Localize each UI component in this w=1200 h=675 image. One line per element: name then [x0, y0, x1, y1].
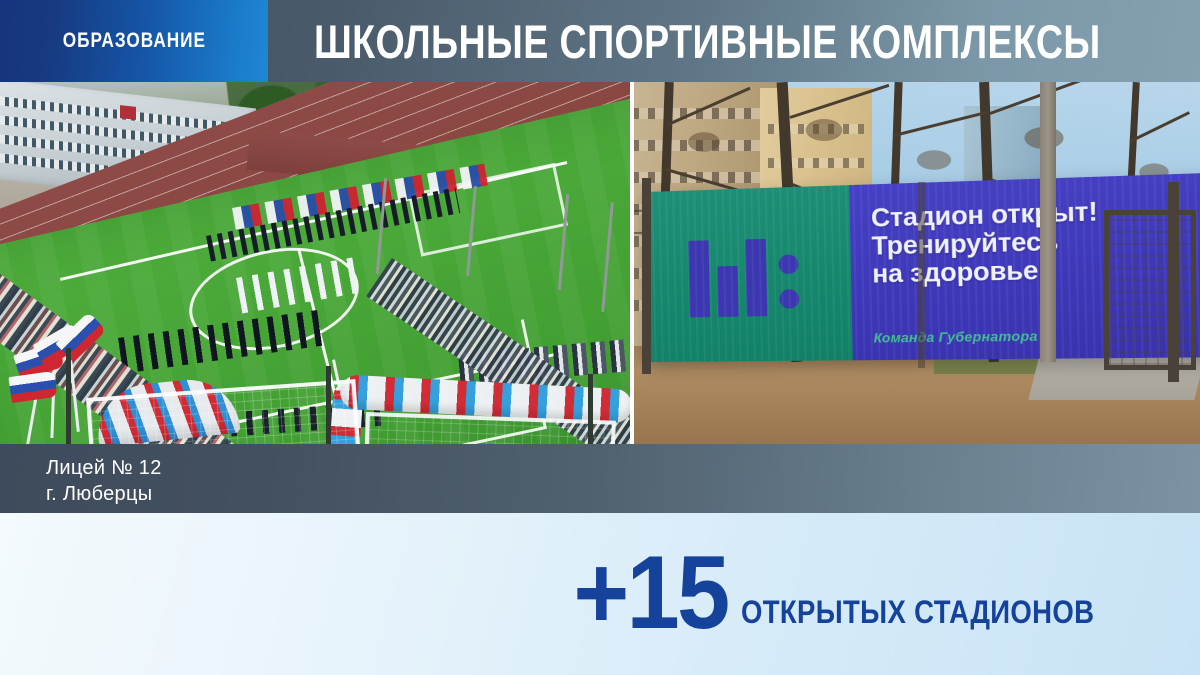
logo-dot — [779, 289, 799, 309]
page-title-text: ШКОЛЬНЫЕ СПОРТИВНЫЕ КОМПЛЕКСЫ — [314, 18, 1101, 65]
photo-strip: Стадион открыт! Тренируйтесь на здоровье… — [0, 82, 1200, 444]
caption-band: Лицей № 12 г. Люберцы — [0, 444, 1200, 513]
fence-post — [326, 366, 331, 444]
header-bar: ОБРАЗОВАНИЕ ШКОЛЬНЫЕ СПОРТИВНЫЕ КОМПЛЕКС… — [0, 0, 1200, 82]
logo-bar — [717, 266, 738, 317]
utility-pole — [1040, 82, 1056, 362]
photo-caption: Лицей № 12 г. Люберцы — [46, 456, 162, 507]
fence-gate — [1104, 210, 1196, 370]
russian-flag — [8, 371, 57, 403]
fence-post — [918, 182, 925, 368]
photo-left-stadium-aerial — [0, 82, 630, 444]
logo-bar — [745, 239, 767, 317]
stat-band: +15 ОТКРЫТЫХ СТАДИОНОВ — [0, 513, 1200, 675]
category-tag: ОБРАЗОВАНИЕ — [0, 0, 268, 82]
photo-right-banner: Стадион открыт! Тренируйтесь на здоровье… — [634, 82, 1200, 444]
logo-bar — [688, 240, 710, 317]
logo-dot — [778, 254, 798, 274]
fence-post — [66, 348, 71, 444]
banner-logo-panel — [644, 185, 853, 362]
stat-label: ОТКРЫТЫХ СТАДИОНОВ — [741, 596, 1094, 628]
slide-root: ОБРАЗОВАНИЕ ШКОЛЬНЫЕ СПОРТИВНЫЕ КОМПЛЕКС… — [0, 0, 1200, 675]
page-title: ШКОЛЬНЫЕ СПОРТИВНЫЕ КОМПЛЕКСЫ — [268, 0, 1200, 82]
stat-group: +15 ОТКРЫТЫХ СТАДИОНОВ — [560, 551, 1152, 636]
fence-post — [642, 178, 651, 374]
building-accent-panel — [120, 105, 136, 120]
fence-post — [1168, 182, 1179, 382]
fence-post — [588, 374, 593, 444]
stat-number: +15 — [573, 551, 727, 636]
governor-team-logo-icon — [686, 232, 809, 318]
category-tag-label: ОБРАЗОВАНИЕ — [62, 29, 205, 53]
banner-subtitle: Команда Губернатора — [873, 328, 1037, 346]
